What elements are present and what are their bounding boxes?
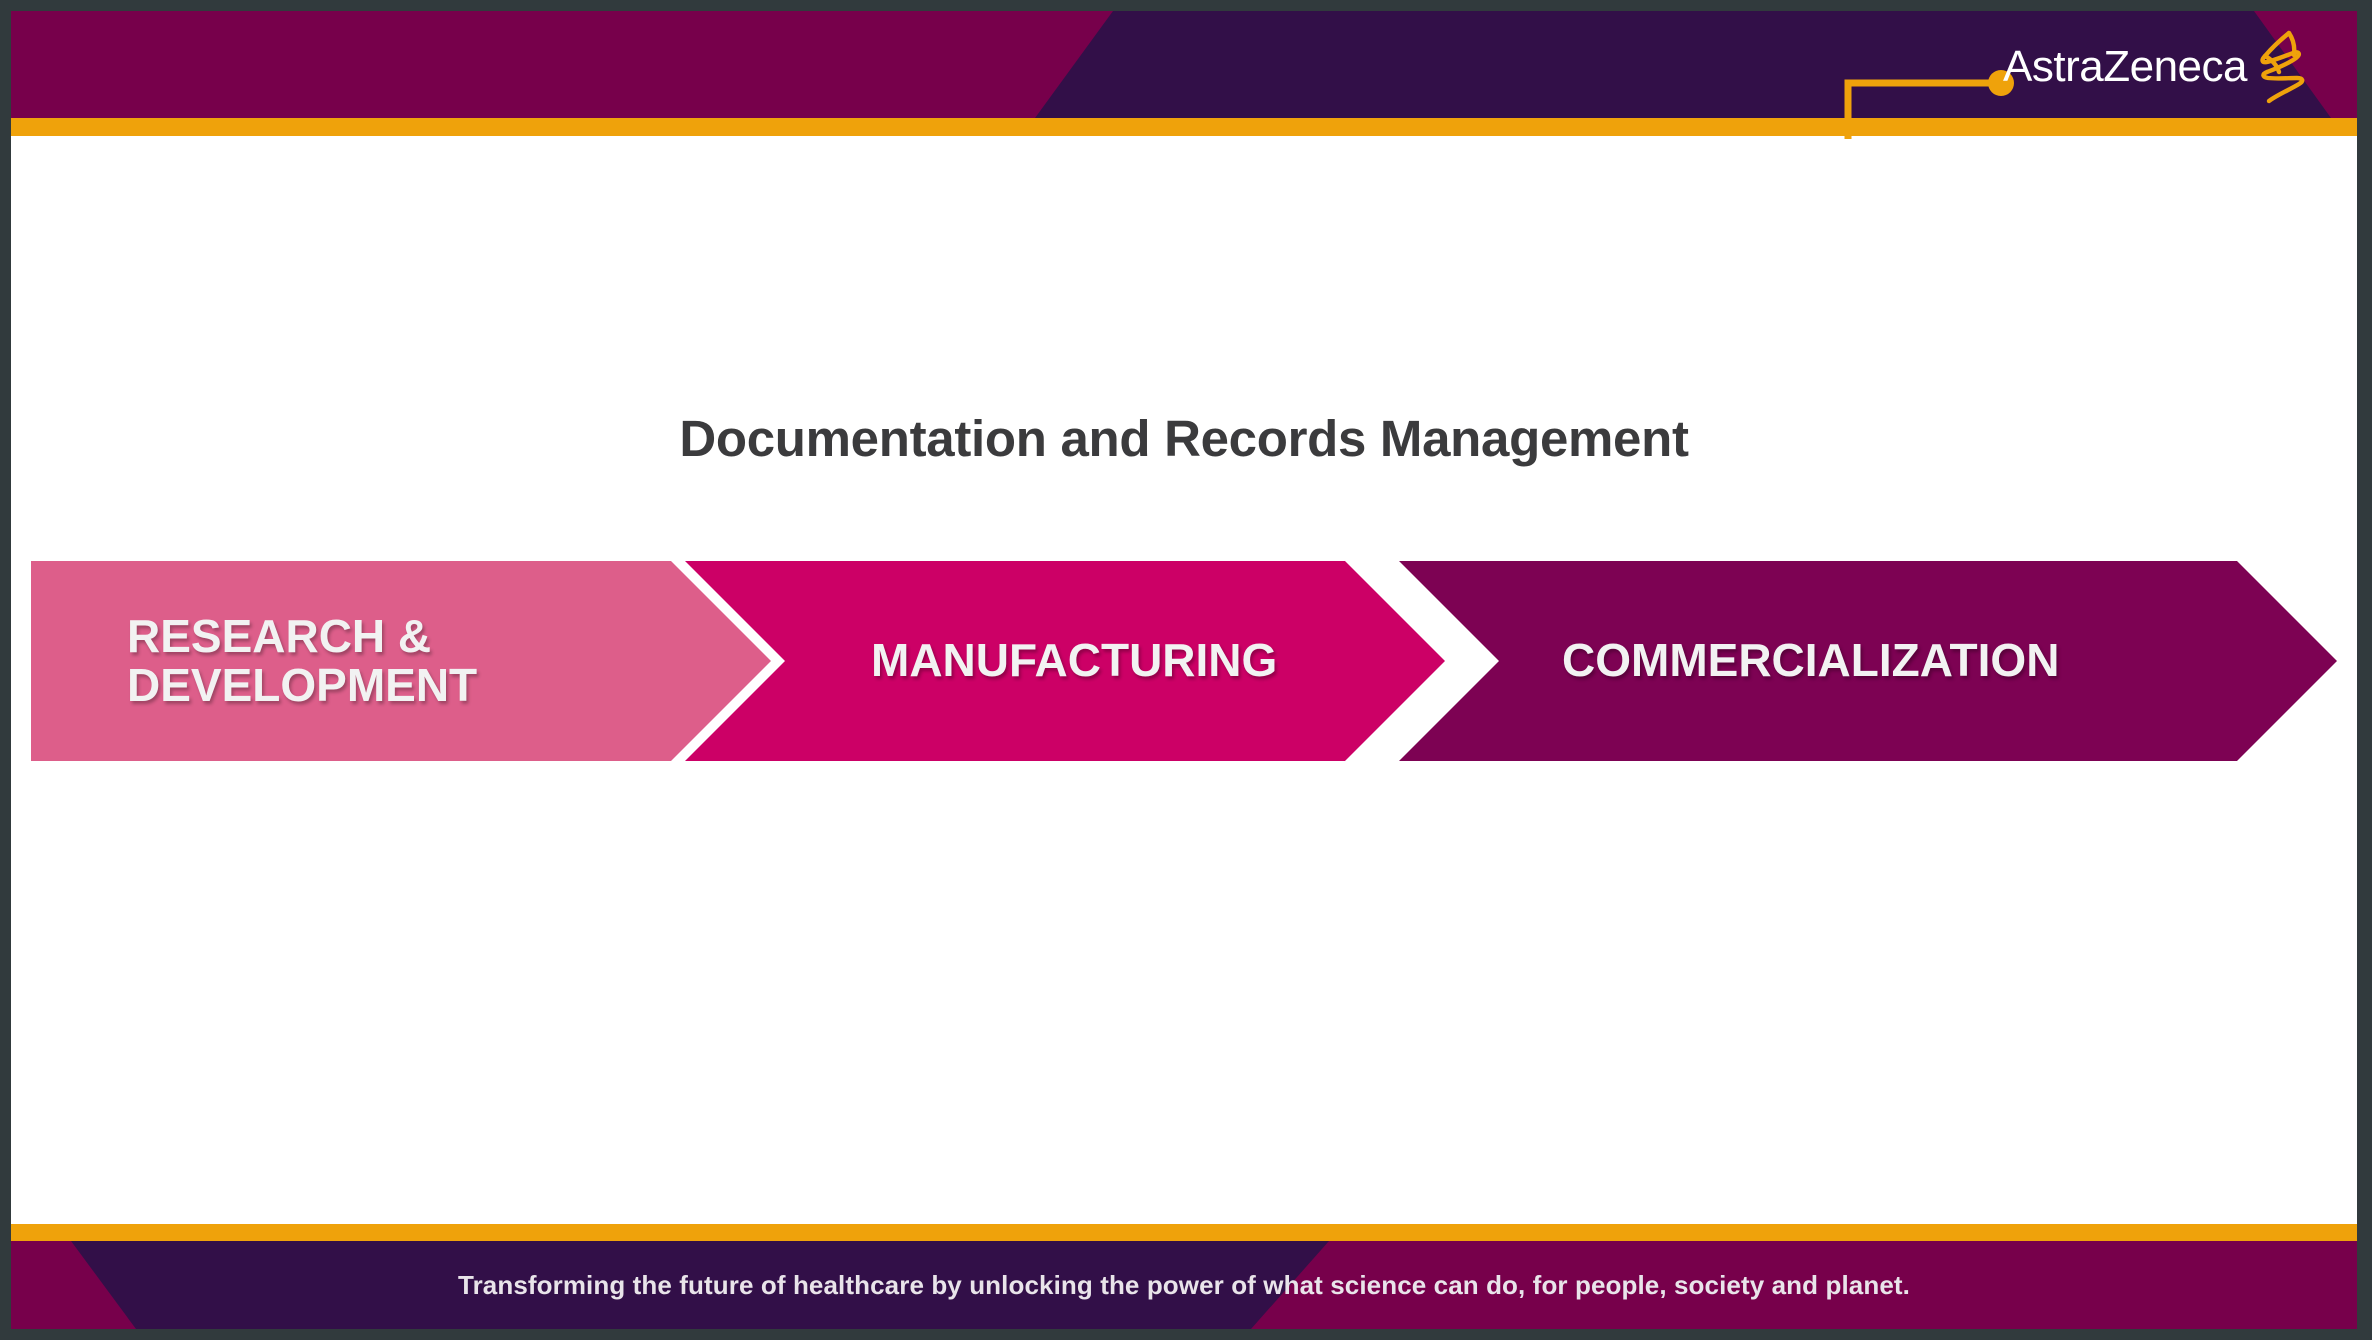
process-stage-label: MANUFACTURING [871,636,1277,685]
astrazeneca-wordmark: AstraZeneca [2003,45,2247,89]
slide-frame: AstraZeneca Documentation and Records Ma… [0,0,2372,1340]
slide-canvas: AstraZeneca Documentation and Records Ma… [11,11,2357,1329]
process-stage-research-and-development[interactable]: RESEARCH & DEVELOPMENT [31,561,771,761]
header-gold-rule [11,118,2357,136]
process-stage-commercialization[interactable]: COMMERCIALIZATION [1399,561,2337,761]
process-chevron-band: RESEARCH & DEVELOPMENT MANUFACTURING COM… [31,561,2337,761]
process-stage-manufacturing[interactable]: MANUFACTURING [685,561,1445,761]
astrazeneca-logo: AstraZeneca [2003,27,2311,107]
footer-tagline: Transforming the future of healthcare by… [11,1241,2357,1329]
footer-gold-rule [11,1224,2357,1241]
slide-header: AstraZeneca [11,11,2357,136]
slide-footer: Transforming the future of healthcare by… [11,1224,2357,1329]
astrazeneca-swirl-icon [2249,29,2311,105]
process-stage-label: COMMERCIALIZATION [1562,636,2059,685]
process-stage-label: RESEARCH & DEVELOPMENT [127,612,477,710]
page-title: Documentation and Records Management [11,409,2357,468]
